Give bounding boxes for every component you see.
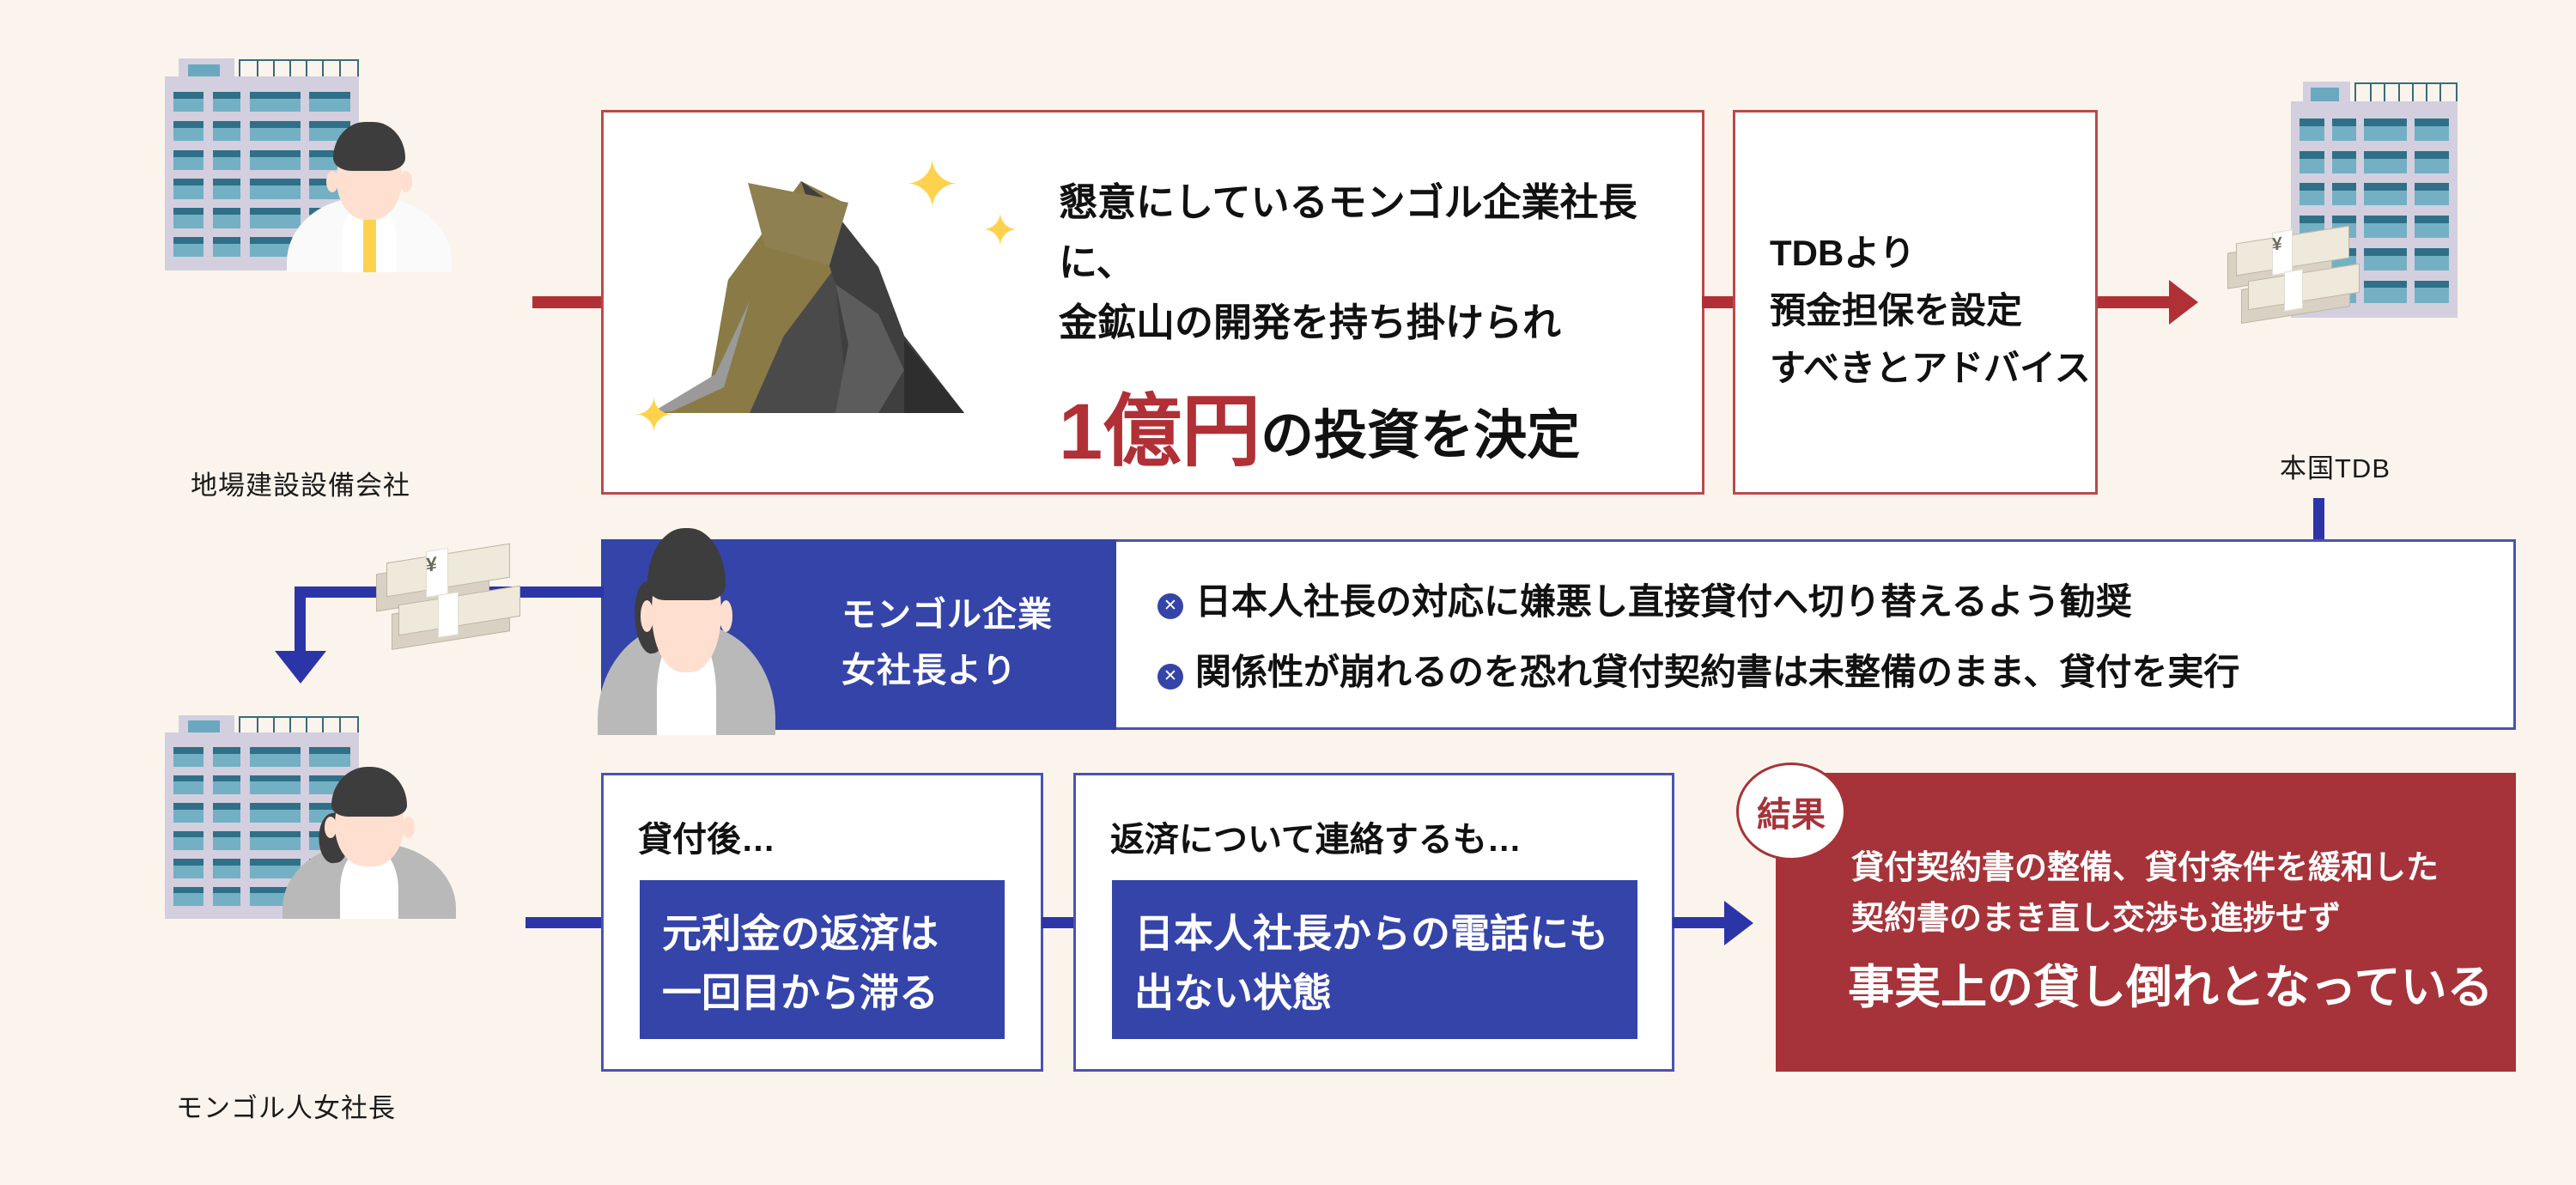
- investment-amount-suffix: の投資を決定: [1261, 406, 1580, 465]
- connector-company-to-investment: [532, 296, 605, 308]
- actor-top-left-label: 地場建設設備会社: [191, 464, 410, 502]
- investment-text-block: 懇意にしているモンゴル企業社長に、 金鉱山の開発を持ち掛けられ 1億円の投資を決…: [1059, 173, 1694, 482]
- mongolia-point-row: ✕日本人社長の対応に嫌悪し直接貸付へ切り替えるよう勧奨: [1157, 573, 2132, 625]
- cross-marker-icon: ✕: [1157, 664, 1183, 690]
- result-badge-label: 結果: [1757, 787, 1826, 836]
- result-box: 貸付契約書の整備、貸付条件を緩和した 契約書のまき直し交渉も進捗せず 事実上の貸…: [1776, 773, 2516, 1072]
- mongolia-point-text: 日本人社長の対応に嫌悪し直接貸付へ切り替えるよう勧奨: [1195, 581, 2132, 622]
- money-bundle-icon: ¥: [2227, 228, 2378, 322]
- result-emphasis: 事実上の貸し倒れとなっている: [1848, 949, 2494, 1017]
- mongolia-speaker-text: モンゴル企業 女社長より: [841, 587, 1053, 699]
- mongolia-point-row: ✕関係性が崩れるのを恐れ貸付契約書は未整備のまま、貸付を実行: [1157, 643, 2239, 696]
- arrow-right-blue-icon: [1724, 901, 1753, 945]
- connector-steps-to-result: [1673, 917, 1726, 928]
- connector-step-1-to-step-2: [1042, 917, 1076, 928]
- tdb-advice-line-3: すべきとアドバイス: [1770, 339, 2091, 397]
- outcome-step-highlight-line-1: 元利金の返済は: [662, 904, 1005, 963]
- businessman-avatar-icon: [283, 109, 455, 272]
- mongolia-speaker-panel: モンゴル企業 女社長より: [601, 539, 1116, 730]
- tdb-advice-line-1: TDBより: [1770, 224, 2091, 282]
- investment-line-2: 金鉱山の開発を持ち掛けられ: [1059, 293, 1694, 353]
- result-badge: 結果: [1736, 763, 1846, 860]
- result-line-1: 貸付契約書の整備、貸付条件を緩和した: [1851, 843, 2439, 894]
- outcome-step-highlight: 元利金の返済は 一回目から滞る: [640, 880, 1005, 1039]
- arrow-down-blue-icon: [275, 651, 326, 684]
- money-bundle-icon: ¥: [376, 546, 539, 649]
- actor-top-right: ¥: [2233, 69, 2516, 352]
- tdb-advice-line-2: 預金担保を設定: [1770, 282, 2091, 339]
- result-line-2: 契約書のまき直し交渉も進捗せず: [1851, 894, 2341, 945]
- outcome-step-highlight-line-2: 一回目から滞る: [662, 963, 1005, 1023]
- sparkle-icon: ✦: [904, 151, 960, 218]
- sparkle-icon: ✦: [634, 392, 674, 440]
- businesswoman-avatar-icon: [279, 754, 459, 919]
- outcome-step-caption: 返済について連絡するも…: [1110, 811, 1522, 861]
- actor-bottom-left-label: モンゴル人女社長: [176, 1086, 396, 1125]
- outcome-step-highlight-line-1: 日本人社長からの電話にも: [1134, 904, 1637, 963]
- connector-money-vertical: [295, 586, 306, 657]
- sparkle-icon: ✦: [981, 209, 1019, 253]
- mongolia-speaker-line-1: モンゴル企業: [841, 587, 1053, 643]
- tdb-advice-text: TDBより 預金担保を設定 すべきとアドバイス: [1770, 224, 2091, 398]
- connector-investment-to-advice: [1702, 296, 1736, 308]
- cross-marker-icon: ✕: [1157, 593, 1183, 619]
- businesswoman-avatar-icon: [594, 495, 779, 735]
- actor-bottom-left: [146, 704, 481, 919]
- connector-advice-to-tdb: [2098, 296, 2171, 308]
- connector-actor-to-step-1: [526, 917, 607, 928]
- actor-top-left: [146, 47, 481, 270]
- investment-amount: 1億円: [1059, 388, 1261, 476]
- mongolia-speaker-line-2: 女社長より: [841, 643, 1053, 699]
- outcome-step-caption: 貸付後…: [638, 811, 775, 861]
- outcome-step-box: 貸付後… 元利金の返済は 一回目から滞る: [601, 773, 1043, 1072]
- mongolia-points-box: ✕日本人社長の対応に嫌悪し直接貸付へ切り替えるよう勧奨 ✕関係性が崩れるのを恐れ…: [1116, 539, 2516, 730]
- outcome-step-box: 返済について連絡するも… 日本人社長からの電話にも 出ない状態: [1073, 773, 1674, 1072]
- investment-line-1: 懇意にしているモンゴル企業社長に、: [1059, 173, 1694, 293]
- mongolia-point-text: 関係性が崩れるのを恐れ貸付契約書は未整備のまま、貸付を実行: [1195, 652, 2239, 692]
- outcome-step-highlight-line-2: 出ない状態: [1134, 963, 1637, 1023]
- connector-tdb-to-mongolia-row: [2313, 498, 2324, 541]
- investment-box: ✦ ✦ ✦ 懇意にしているモンゴル企業社長に、 金鉱山の開発を持ち掛けられ 1億…: [601, 110, 1704, 495]
- arrow-right-red-icon: [2169, 280, 2198, 325]
- outcome-step-highlight: 日本人社長からの電話にも 出ない状態: [1112, 880, 1637, 1039]
- infographic-canvas: 地場建設設備会社 ✦ ✦ ✦ 懇意にしているモンゴル企業社長に、 金鉱山の開発を…: [0, 0, 2576, 1185]
- tdb-advice-box: TDBより 預金担保を設定 すべきとアドバイス: [1733, 110, 2098, 495]
- actor-top-right-label: 本国TDB: [2280, 447, 2391, 485]
